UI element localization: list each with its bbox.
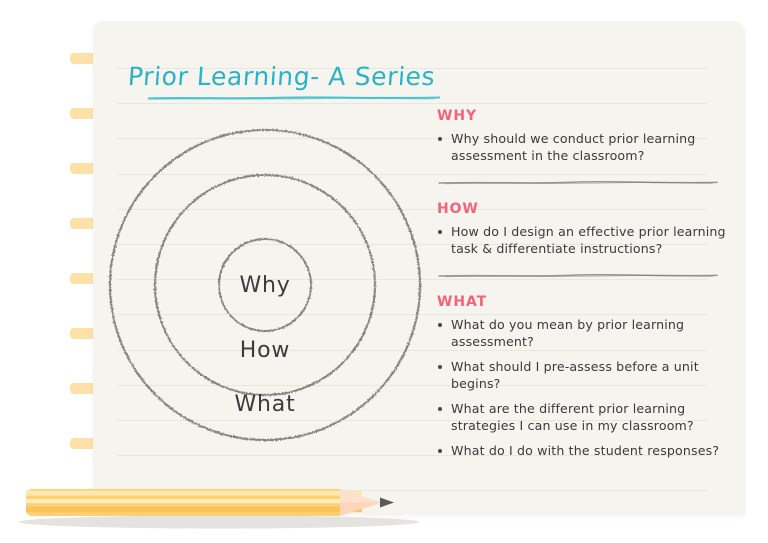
pencil-graphite-tip xyxy=(380,498,394,508)
bullet-item: What do I do with the student responses? xyxy=(437,443,729,460)
ring-label-how: How xyxy=(240,338,290,363)
section-why: WHYWhy should we conduct prior learning … xyxy=(437,108,729,201)
pencil-illustration xyxy=(14,478,419,533)
pencil-shadow xyxy=(19,516,419,529)
bullet-item: What are the different prior learning st… xyxy=(437,401,729,434)
bullet-item: Why should we conduct prior learning ass… xyxy=(437,131,729,164)
bullet-item: What should I pre-assess before a unit b… xyxy=(437,359,729,392)
ring-label-why: Why xyxy=(239,273,290,298)
slide-canvas: Prior Learning- A Series xyxy=(0,0,768,543)
bullet-item: What do you mean by prior learning asses… xyxy=(437,317,729,350)
bullet-list-how: How do I design an effective prior learn… xyxy=(437,224,729,257)
pencil-shade xyxy=(26,507,362,512)
section-heading-why: WHY xyxy=(437,108,729,124)
bullet-list-what: What do you mean by prior learning asses… xyxy=(437,317,729,460)
section-divider xyxy=(437,180,719,185)
bullet-list-why: Why should we conduct prior learning ass… xyxy=(437,131,729,164)
ring-label-what: What xyxy=(234,392,295,417)
pencil-highlight-mid xyxy=(26,499,362,503)
ruled-line xyxy=(117,103,707,104)
golden-circle-diagram: Why How What xyxy=(100,120,435,450)
section-how: HOWHow do I design an effective prior le… xyxy=(437,201,729,294)
title-underline-stroke xyxy=(148,96,440,100)
questions-column: WHYWhy should we conduct prior learning … xyxy=(437,108,729,469)
section-what: WHATWhat do you mean by prior learning a… xyxy=(437,294,729,460)
section-heading-what: WHAT xyxy=(437,294,729,310)
binder-tab-strip xyxy=(0,0,93,543)
bullet-item: How do I design an effective prior learn… xyxy=(437,224,729,257)
page-title: Prior Learning- A Series xyxy=(127,62,469,91)
section-heading-how: HOW xyxy=(437,201,729,217)
page-title-block: Prior Learning- A Series xyxy=(128,62,468,91)
pencil-highlight-top xyxy=(26,491,362,496)
section-divider xyxy=(437,273,719,278)
